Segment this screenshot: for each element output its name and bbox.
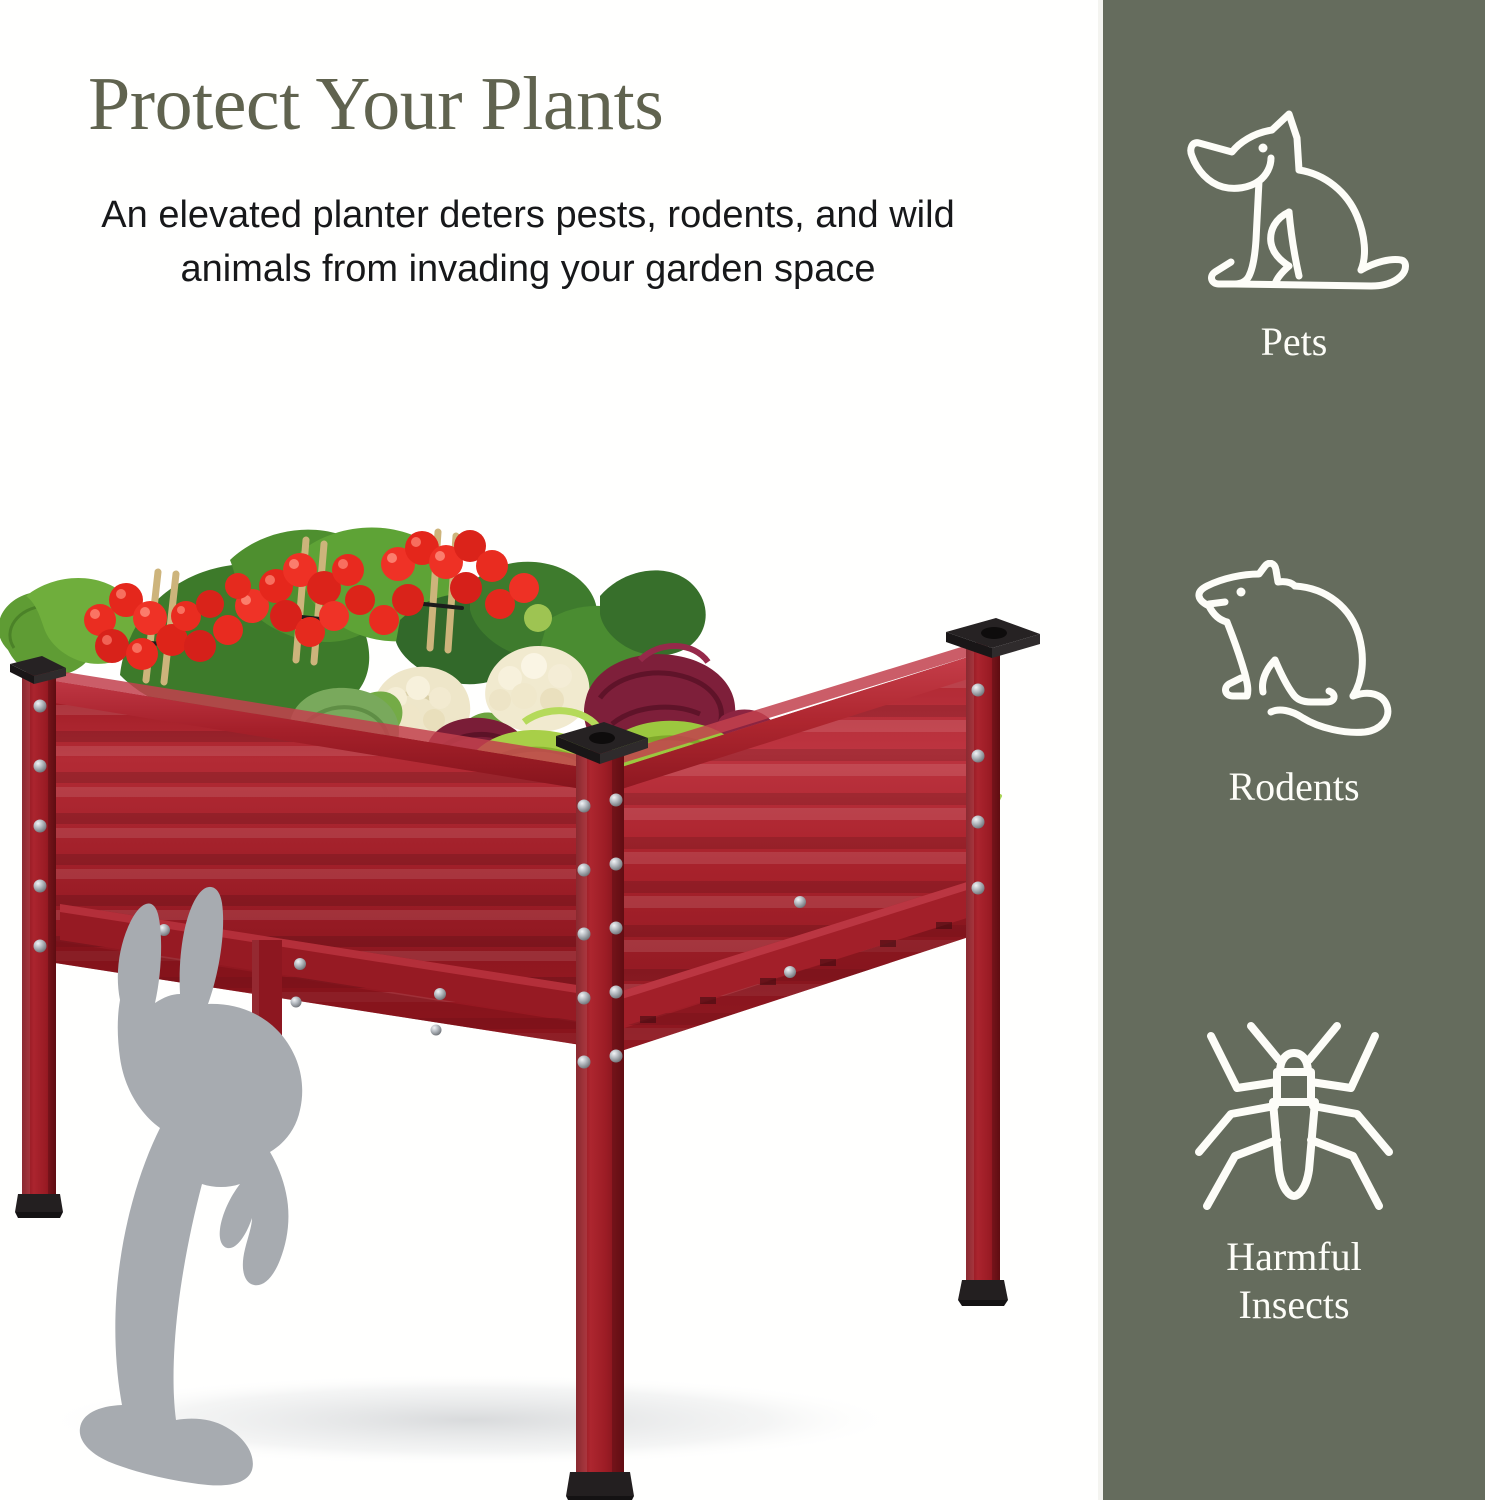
planter-illustration [0, 500, 1070, 1500]
page-subtitle: An elevated planter deters pests, rodent… [88, 188, 968, 296]
left-content-panel: Protect Your Plants An elevated planter … [0, 0, 1098, 1500]
sidebar-label-harmful-insects: Harmful Insects [1103, 1233, 1485, 1329]
sidebar-item-rodents[interactable]: Rodents [1103, 560, 1485, 811]
leg-foot-cap-left [15, 1194, 63, 1218]
rodent-icon [1179, 560, 1409, 745]
page-title: Protect Your Plants [88, 62, 1048, 146]
leg-foot-cap-center [566, 1472, 634, 1500]
dog-icon [1179, 100, 1409, 300]
benefits-sidebar: Pets Rodents [1098, 0, 1485, 1500]
insect-icon [1179, 1010, 1409, 1215]
sidebar-item-harmful-insects[interactable]: Harmful Insects [1103, 1010, 1485, 1329]
leg-foot-cap-right [958, 1280, 1008, 1306]
sidebar-label-rodents: Rodents [1103, 763, 1485, 811]
sidebar-item-pets[interactable]: Pets [1103, 100, 1485, 366]
sidebar-label-pets: Pets [1103, 318, 1485, 366]
product-marketing-image: Protect Your Plants An elevated planter … [0, 0, 1485, 1500]
